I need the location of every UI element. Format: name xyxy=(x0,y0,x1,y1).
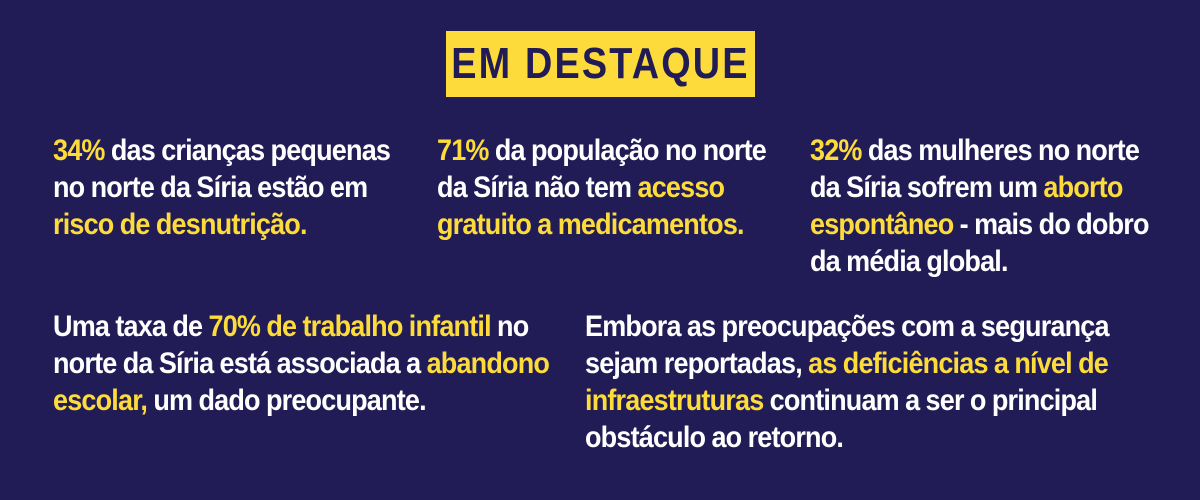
stat-text: 71% da população no norte da Síria não t… xyxy=(437,132,788,243)
header-banner: EM DESTAQUE xyxy=(446,31,755,97)
infographic-canvas: EM DESTAQUE 34% das crianças pequenas no… xyxy=(0,0,1200,500)
body-run: um dado preocupante. xyxy=(147,384,426,417)
body-run: Uma taxa de xyxy=(53,310,209,343)
highlight-run: 34% xyxy=(53,134,105,167)
body-run: das crianças pequenas no norte da Síria … xyxy=(53,134,390,204)
page-title: EM DESTAQUE xyxy=(451,42,749,86)
highlight-run: risco de desnutrição. xyxy=(53,208,307,241)
stat-text: 32% das mulheres no norte da Síria sofre… xyxy=(810,132,1170,280)
highlight-run: 70% de trabalho infantil xyxy=(209,310,491,343)
stat-text: Embora as preocupações com a segurança s… xyxy=(585,308,1125,456)
highlight-run: 71% xyxy=(437,134,489,167)
stat-block-infrastructure: Embora as preocupações com a segurança s… xyxy=(585,308,1185,456)
stat-text: 34% das crianças pequenas no norte da Sí… xyxy=(53,132,422,243)
stat-text: Uma taxa de 70% de trabalho infantil no … xyxy=(53,308,557,419)
stat-block-malnutrition: 34% das crianças pequenas no norte da Sí… xyxy=(53,132,463,243)
stat-block-medicine-access: 71% da população no norte da Síria não t… xyxy=(437,132,827,243)
highlight-run: 32% xyxy=(810,134,862,167)
stat-block-child-labour: Uma taxa de 70% de trabalho infantil no … xyxy=(53,308,613,419)
stat-block-miscarriage: 32% das mulheres no norte da Síria sofre… xyxy=(810,132,1200,280)
